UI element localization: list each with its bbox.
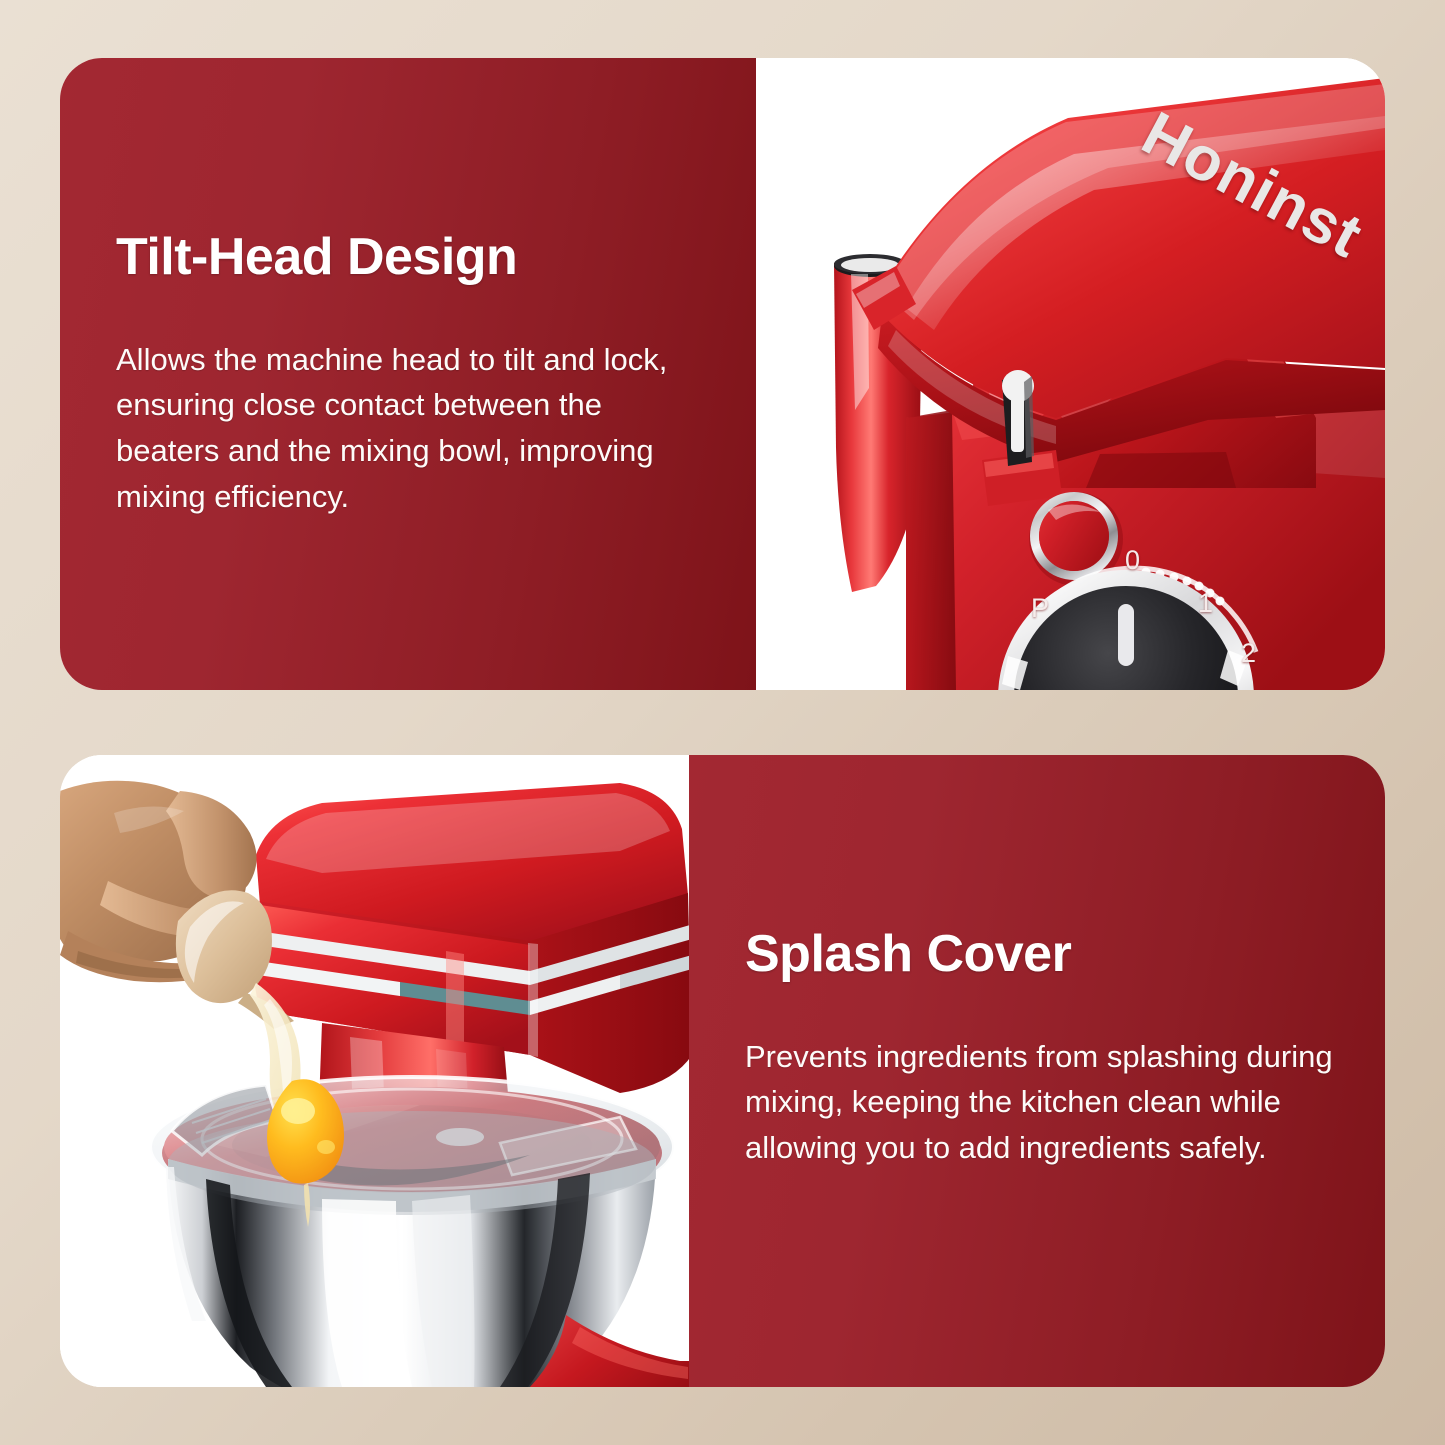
tilt-head-illustration xyxy=(756,58,1385,690)
tilt-head-photo: Honinst P 0 1 2 xyxy=(756,58,1385,690)
infographic-page: Honinst P 0 1 2 Tilt-Head Design Allows … xyxy=(0,0,1445,1445)
tilt-head-text-panel: Tilt-Head Design Allows the machine head… xyxy=(60,58,756,690)
feature-card-splash-cover: Splash Cover Prevents ingredients from s… xyxy=(60,755,1385,1387)
splash-cover-description: Prevents ingredients from splashing duri… xyxy=(745,1034,1337,1172)
feature-card-tilt-head: Honinst P 0 1 2 Tilt-Head Design Allows … xyxy=(60,58,1385,690)
splash-cover-illustration xyxy=(60,755,756,1387)
splash-cover-photo xyxy=(60,755,756,1387)
splash-cover-title: Splash Cover xyxy=(745,927,1337,982)
tilt-head-description: Allows the machine head to tilt and lock… xyxy=(116,337,708,521)
tilt-head-title: Tilt-Head Design xyxy=(116,230,708,285)
splash-cover-text-panel: Splash Cover Prevents ingredients from s… xyxy=(689,755,1385,1387)
